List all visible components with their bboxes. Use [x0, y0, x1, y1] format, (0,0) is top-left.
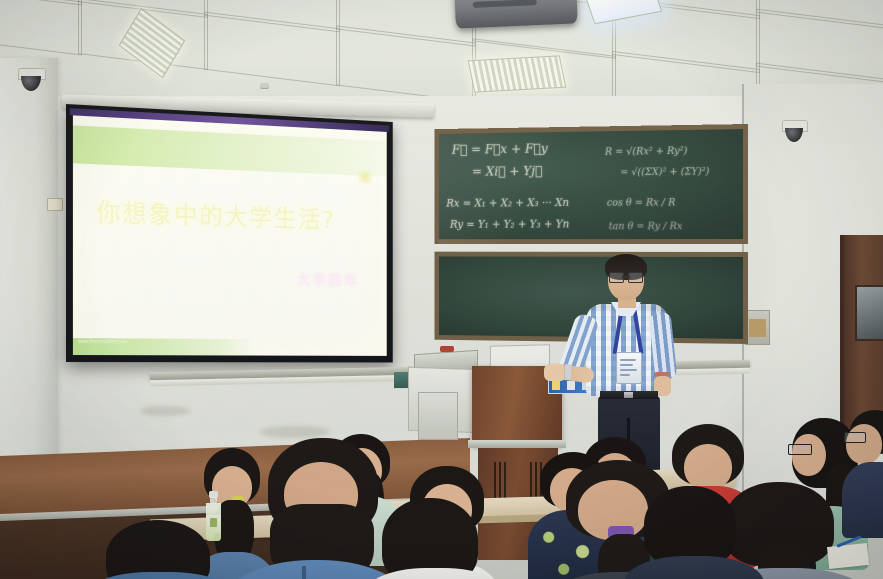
belt: [600, 391, 658, 399]
eyeglasses-icon: [609, 272, 643, 281]
eyeglasses-icon: [844, 432, 866, 443]
chalk-equation: = Xi⃗ + Yj⃗: [472, 164, 542, 179]
slide-decoration-icon: [358, 171, 372, 184]
wristwatch: [565, 364, 571, 380]
chalk-equation: R = √(Rx² + Ry²): [605, 146, 687, 158]
id-badge: [616, 352, 642, 384]
power-outlet: [47, 198, 63, 211]
classroom-photo: 你想象中的大学生活? 大学四年 www.themegallery.com F⃗ …: [0, 0, 883, 579]
projection-screen[interactable]: 你想象中的大学生活? 大学四年 www.themegallery.com: [66, 104, 393, 362]
lecturer-left-hand: [544, 364, 564, 381]
slide-canvas: 你想象中的大学生活? 大学四年 www.themegallery.com: [73, 115, 387, 356]
smoke-detector: [260, 83, 269, 88]
chalk-equation: F⃗ = F⃗x + F⃗y: [452, 142, 548, 158]
ceiling-light-fixture: [468, 55, 567, 92]
chalk-equation: cos θ = Rx / R: [607, 197, 676, 208]
slide-header-band: [73, 125, 387, 177]
desk-marker: [440, 346, 454, 352]
water-bottle[interactable]: [206, 491, 221, 541]
blackboard-upper-panel: F⃗ = F⃗x + F⃗y = Xi⃗ + Yj⃗ Rx = X₁ + X₂ …: [434, 124, 748, 244]
student-far-left-edge: [372, 498, 492, 579]
chalk-equation: = √((ΣX)² + (ΣY)²): [620, 166, 709, 178]
denim-seam: [302, 566, 306, 579]
desk-cabinet: [418, 392, 458, 440]
slide-subtitle: 大学四年: [297, 269, 361, 290]
door-window: [855, 285, 883, 341]
slide-title: 你想象中的大学生活?: [96, 193, 372, 237]
student-rear-center: [634, 486, 752, 579]
notebook-paper: [827, 543, 869, 569]
student-front-left: [92, 520, 224, 579]
chalk-equation: Ry = Y₁ + Y₂ + Y₃ + Yn: [450, 218, 569, 231]
security-camera-icon: [18, 68, 44, 90]
slide-footer-text: www.themegallery.com: [78, 339, 128, 345]
lectern-lip: [468, 440, 566, 448]
wall-control-panel[interactable]: [745, 310, 770, 345]
security-camera-icon: [782, 120, 806, 141]
slide-footer: www.themegallery.com: [73, 338, 254, 355]
eyeglasses-icon: [788, 444, 812, 455]
chalk-equation: Rx = X₁ + X₂ + X₃ ··· Xn: [446, 196, 569, 209]
chalk-equation: tan θ = Ry / Rx: [609, 221, 683, 232]
